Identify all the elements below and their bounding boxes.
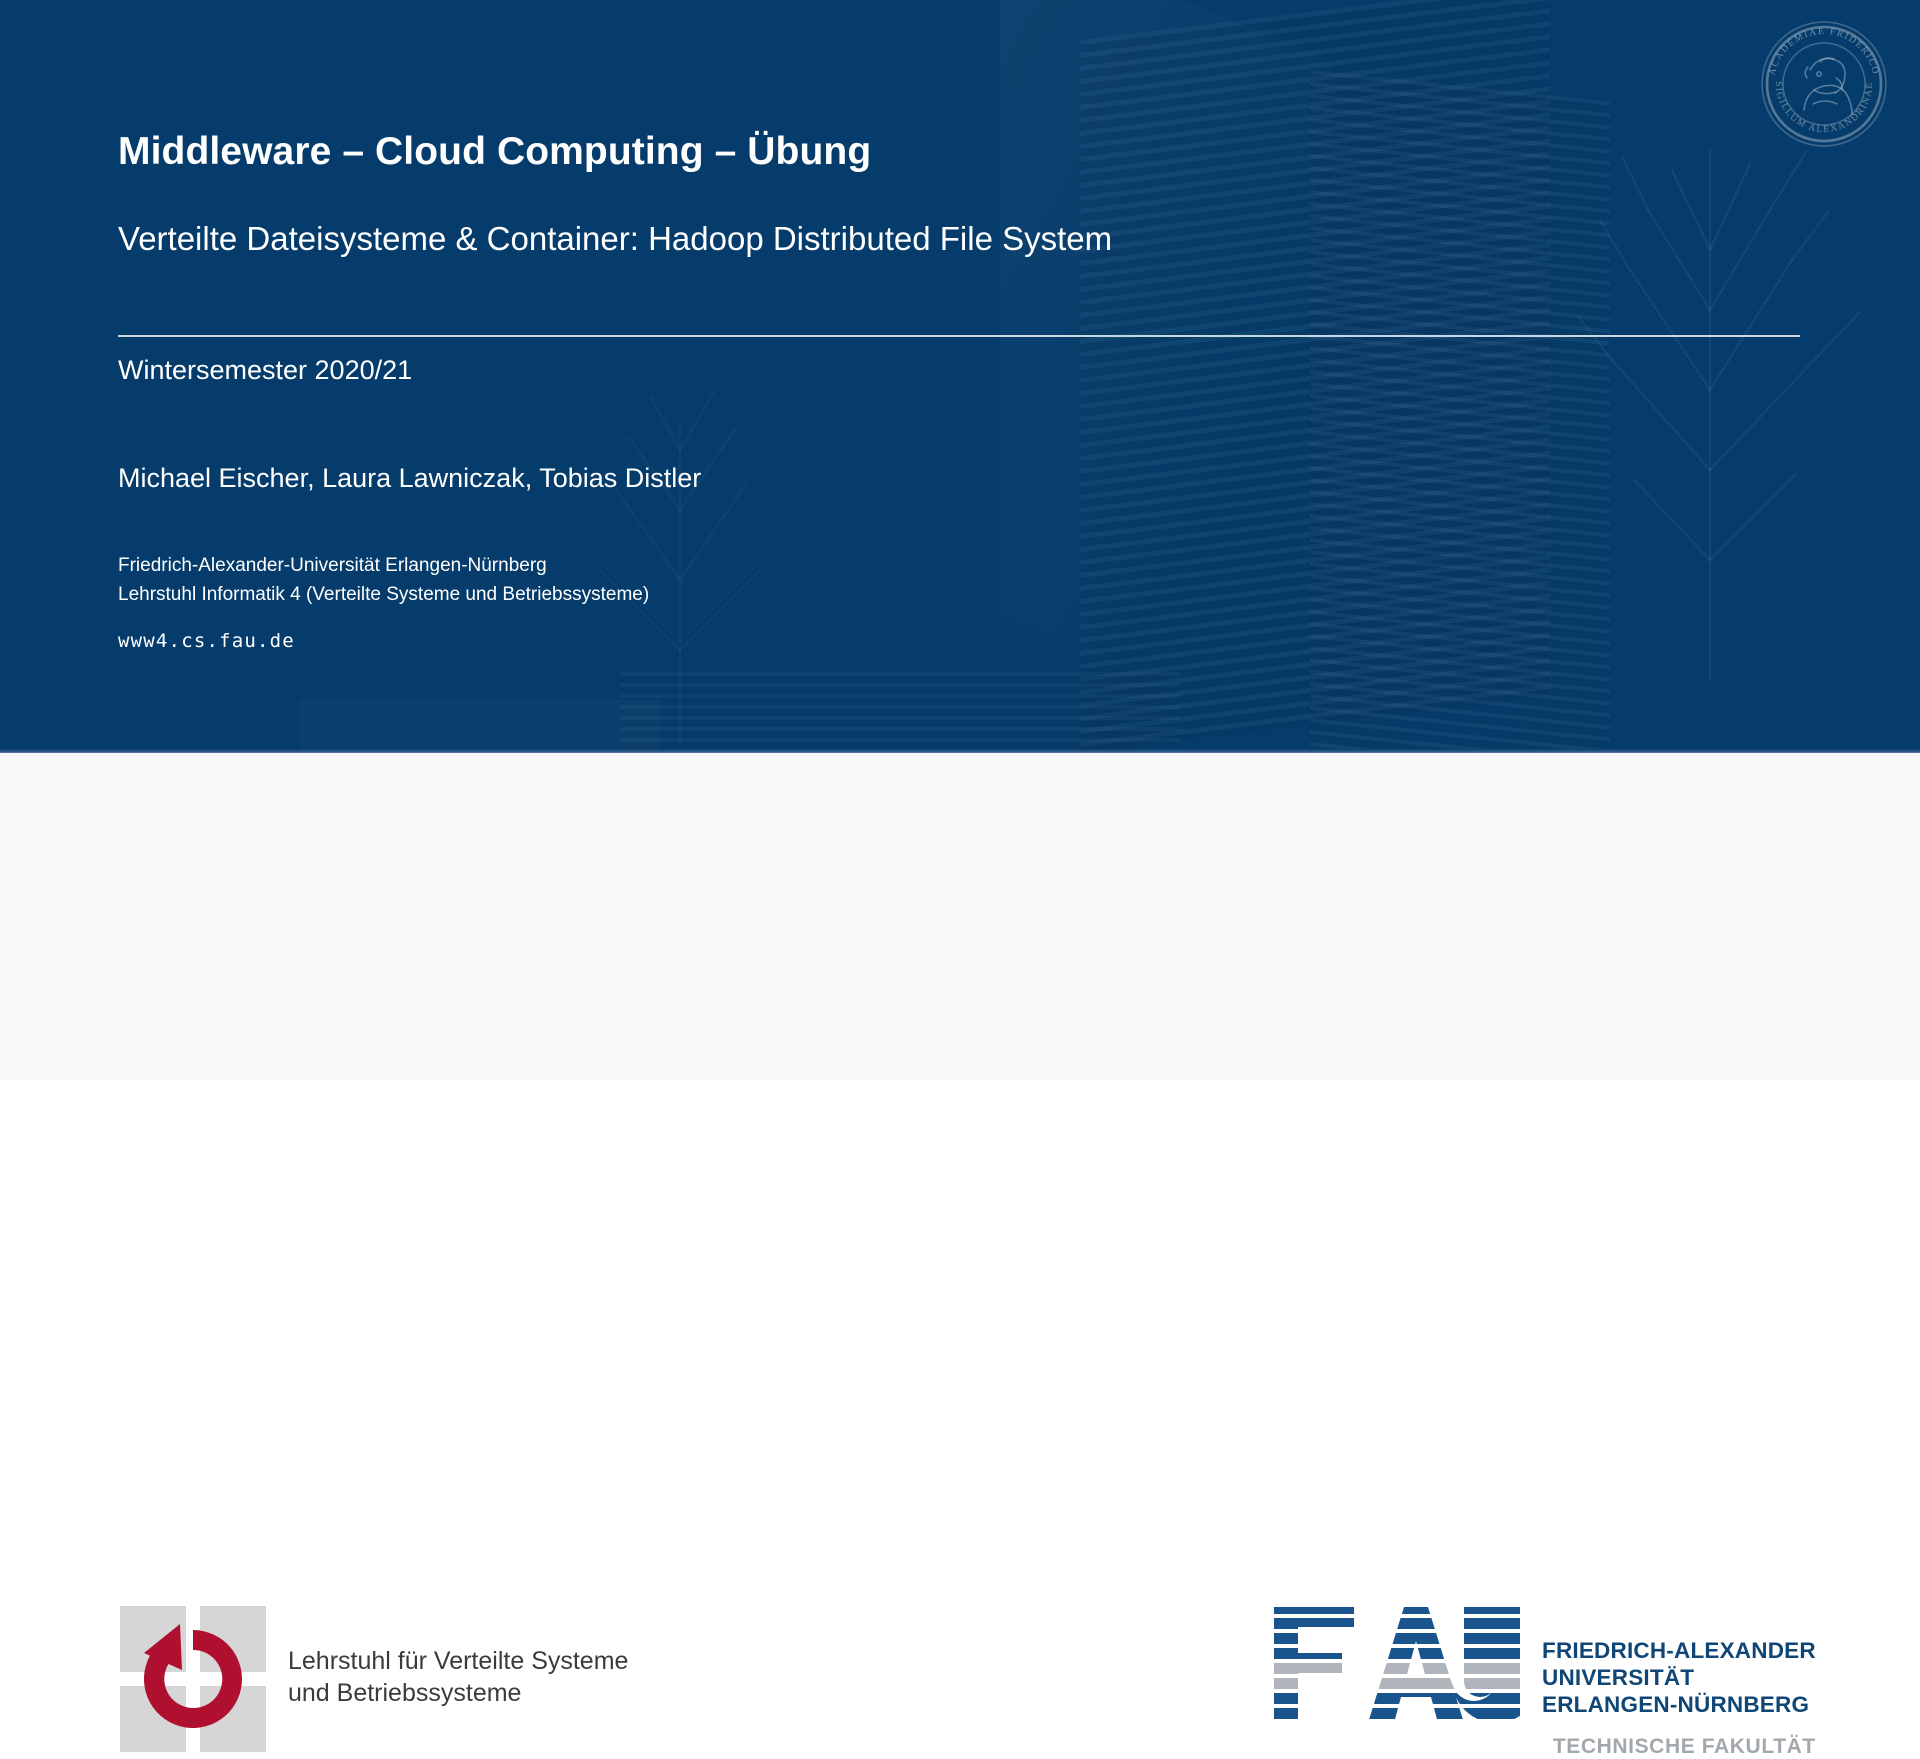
fau-faculty-label: TECHNISCHE FAKULTÄT	[1542, 1735, 1816, 1759]
i4-caption-line1: Lehrstuhl für Verteilte Systeme	[288, 1645, 628, 1677]
authors-label: Michael Eischer, Laura Lawniczak, Tobias…	[118, 463, 701, 494]
affiliation-chair: Lehrstuhl Informatik 4 (Verteilte System…	[118, 580, 649, 609]
affiliation-block: Friedrich-Alexander-Universität Erlangen…	[118, 551, 649, 609]
semester-label: Wintersemester 2020/21	[118, 355, 412, 386]
fau-name-line2: UNIVERSITÄT	[1542, 1664, 1816, 1691]
fau-logo: FRIEDRICH-ALEXANDER UNIVERSITÄT ERLANGEN…	[1268, 1601, 1816, 1759]
i4-circular-arrow-icon	[120, 1606, 266, 1752]
title-text-block: Middleware – Cloud Computing – Übung Ver…	[118, 0, 1818, 753]
page-subtitle: Verteilte Dateisysteme & Container: Hado…	[118, 220, 1112, 258]
i4-caption-line2: und Betriebssysteme	[288, 1677, 628, 1709]
affiliation-university: Friedrich-Alexander-Universität Erlangen…	[118, 551, 649, 580]
footer-logo-band: Lehrstuhl für Verteilte Systeme und Betr…	[0, 753, 1920, 1080]
i4-chair-logo: Lehrstuhl für Verteilte Systeme und Betr…	[120, 1606, 628, 1752]
website-url[interactable]: www4.cs.fau.de	[118, 630, 295, 652]
fau-name-line3: ERLANGEN-NÜRNBERG	[1542, 1691, 1816, 1718]
i4-logo-caption: Lehrstuhl für Verteilte Systeme und Betr…	[288, 1645, 628, 1713]
fau-striped-wordmark-icon	[1268, 1601, 1520, 1729]
presentation-title-slide: ACADEMIAE FRIDERICO SIGILLUM ALEXANDRINA…	[0, 0, 1920, 1080]
fau-wordmark-text: FRIEDRICH-ALEXANDER UNIVERSITÄT ERLANGEN…	[1542, 1601, 1816, 1759]
title-hero-band: ACADEMIAE FRIDERICO SIGILLUM ALEXANDRINA…	[0, 0, 1920, 753]
page-title: Middleware – Cloud Computing – Übung	[118, 130, 871, 174]
title-divider-rule	[118, 335, 1800, 337]
fau-name-line1: FRIEDRICH-ALEXANDER	[1542, 1637, 1816, 1664]
